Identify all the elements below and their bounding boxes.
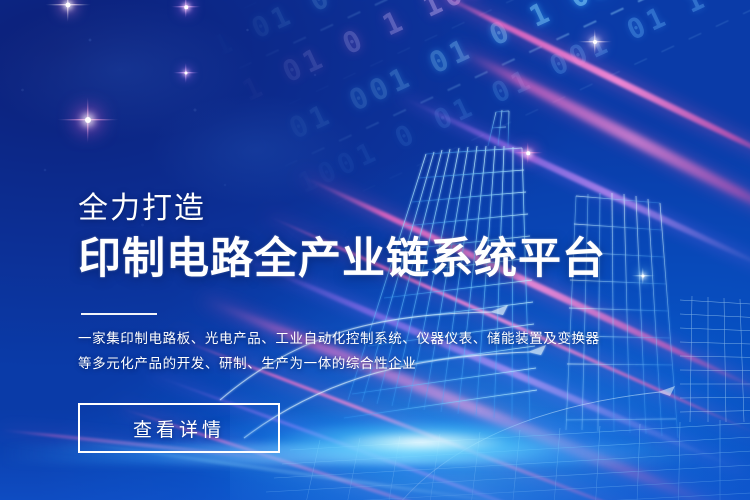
hero-description-line-1: 一家集印制电路板、光电产品、工业自动化控制系统、仪器仪表、储能装置及变换器 (78, 326, 600, 351)
hero-banner: 01 001 01 01 0 1001 01 0 1 001 01 1001 0… (0, 0, 750, 500)
hero-eyebrow: 全力打造 (78, 194, 206, 224)
hero-headline: 印制电路全产业链系统平台 (78, 236, 606, 282)
hero-description: 一家集印制电路板、光电产品、工业自动化控制系统、仪器仪表、储能装置及变换器 等多… (78, 326, 600, 376)
view-details-button[interactable]: 查看详情 (78, 403, 280, 453)
hero-content: 全力打造 印制电路全产业链系统平台 一家集印制电路板、光电产品、工业自动化控制系… (78, 0, 698, 500)
hero-description-line-2: 等多元化产品的开发、研制、生产为一体的综合性企业 (78, 351, 600, 376)
headline-divider (81, 313, 157, 315)
